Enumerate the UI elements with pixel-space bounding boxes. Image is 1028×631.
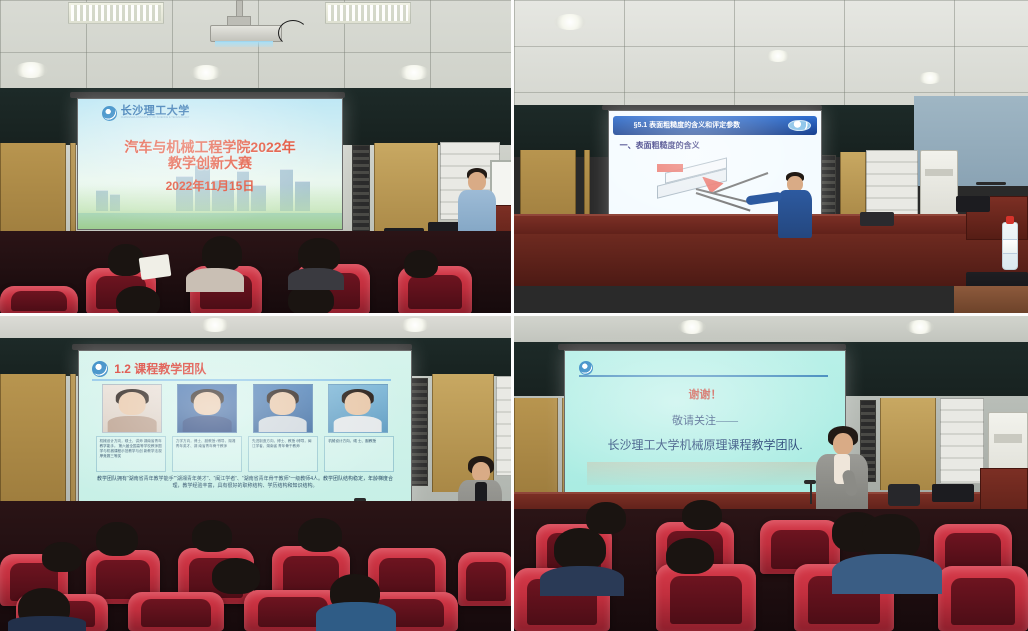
audience-head bbox=[116, 286, 160, 313]
presenter-head bbox=[472, 462, 490, 482]
front-desk-top bbox=[954, 286, 1028, 313]
audience-shoulders bbox=[186, 268, 244, 292]
slide-team-heading: 1.2 课程教学团队 bbox=[114, 360, 206, 377]
ceiling-panel-light bbox=[325, 2, 411, 24]
slide-subtitle: 一、表面粗糙度的含义 bbox=[620, 140, 700, 151]
portrait-face bbox=[269, 392, 296, 415]
wood-wall-panel bbox=[0, 374, 66, 516]
diagram-wedge bbox=[657, 164, 682, 172]
bottle-label bbox=[1003, 239, 1017, 255]
audience-seat bbox=[0, 286, 78, 313]
audience-head bbox=[666, 538, 714, 574]
portrait-torso bbox=[183, 416, 232, 432]
audience-shoulders bbox=[832, 554, 942, 594]
wall-grille bbox=[352, 145, 370, 237]
audience-head bbox=[404, 250, 438, 278]
audience-shoulders bbox=[288, 268, 344, 290]
university-name-en: CHANGSHA UNIVERSITY OF SCIENCE & TECHNOL… bbox=[121, 117, 190, 120]
university-seal-icon bbox=[102, 106, 117, 121]
audience-head bbox=[554, 528, 606, 570]
downlight bbox=[398, 65, 430, 80]
equipment-box bbox=[860, 212, 894, 226]
stage-front-wall bbox=[514, 234, 1028, 286]
laptop bbox=[956, 196, 990, 212]
wall-grille bbox=[410, 378, 428, 486]
audience-seat bbox=[458, 552, 511, 606]
downlight bbox=[766, 50, 790, 62]
slide-thanks-header bbox=[579, 361, 828, 377]
audience-seat bbox=[938, 566, 1028, 631]
slide-city-graphic bbox=[587, 462, 822, 485]
university-seal-icon bbox=[92, 361, 108, 377]
team-portrait bbox=[102, 384, 162, 433]
downlight bbox=[906, 320, 934, 334]
slide-team-header: 1.2 课程教学团队 bbox=[92, 359, 391, 380]
audience-head bbox=[298, 238, 340, 272]
photo-panel-bottom-right[interactable]: 谢谢！ 敬请关注—— 长沙理工大学机械原理课程教学团队. bbox=[514, 316, 1028, 631]
audience-shoulders bbox=[540, 566, 624, 596]
equipment-bin bbox=[888, 484, 920, 506]
roughness-diagram bbox=[651, 161, 749, 211]
portrait-face bbox=[119, 392, 146, 415]
microphone-icon bbox=[976, 182, 1006, 185]
slide-thanks-slide: 谢谢！ 敬请关注—— 长沙理工大学机械原理课程教学团队. bbox=[565, 351, 845, 497]
portrait-torso bbox=[258, 416, 307, 432]
team-caption: 机械设计方向，硕士、讲师 湖南省青年教学能手。 第六届全国高等学校教师图 学与机… bbox=[96, 436, 166, 472]
projector-cable bbox=[278, 20, 308, 46]
university-seal-icon bbox=[788, 120, 810, 131]
team-portrait-row bbox=[102, 384, 388, 433]
audience-seat bbox=[128, 592, 224, 631]
thanks-line-3: 长沙理工大学机械原理课程教学团队. bbox=[565, 436, 845, 453]
projection-screen: 1.2 课程教学团队 bbox=[78, 350, 412, 516]
downlight bbox=[400, 318, 430, 332]
air-conditioner-icon bbox=[920, 150, 958, 222]
projection-screen: 谢谢！ 敬请关注—— 长沙理工大学机械原理课程教学团队. bbox=[564, 350, 846, 498]
female-presenter-closing bbox=[810, 426, 874, 522]
wood-wall-panel bbox=[514, 398, 558, 504]
audience-seat bbox=[656, 564, 756, 631]
audience-head bbox=[212, 558, 260, 594]
projection-screen: 长沙理工大学 CHANGSHA UNIVERSITY OF SCIENCE & … bbox=[77, 98, 343, 230]
photo-collage: 长沙理工大学 CHANGSHA UNIVERSITY OF SCIENCE & … bbox=[0, 0, 1028, 631]
university-logo: 长沙理工大学 CHANGSHA UNIVERSITY OF SCIENCE & … bbox=[102, 106, 190, 121]
audience-shoulders bbox=[8, 616, 86, 631]
water-bottle bbox=[1002, 222, 1018, 270]
laptop bbox=[932, 484, 974, 502]
presenter-head bbox=[833, 433, 853, 455]
team-caption: 力学方向，博士、副教授 /博导，湖湘青年英才、湖 南省青年骨干教师 bbox=[172, 436, 242, 472]
audience-head bbox=[42, 542, 82, 572]
speaker-head bbox=[468, 172, 486, 191]
portrait-face bbox=[194, 392, 221, 415]
audience-shoulders bbox=[316, 602, 396, 631]
downlight bbox=[200, 318, 230, 332]
slide-team-slide: 1.2 课程教学团队 bbox=[79, 351, 411, 515]
team-caption-row: 机械设计方向，硕士、讲师 湖南省青年教学能手。 第六届全国高等学校教师图 学与机… bbox=[96, 436, 395, 472]
team-portrait bbox=[177, 384, 237, 433]
team-portrait bbox=[328, 384, 388, 433]
portrait-torso bbox=[333, 416, 382, 432]
photo-panel-top-left[interactable]: 长沙理工大学 CHANGSHA UNIVERSITY OF SCIENCE & … bbox=[0, 0, 511, 313]
university-seal-icon bbox=[579, 361, 593, 375]
thanks-line-2: 敬请关注—— bbox=[565, 412, 845, 428]
slide-title-slide: 长沙理工大学 CHANGSHA UNIVERSITY OF SCIENCE & … bbox=[78, 99, 342, 229]
thanks-line-1: 谢谢！ bbox=[565, 386, 845, 402]
audience-head bbox=[96, 522, 138, 556]
audience-head bbox=[192, 520, 232, 552]
team-caption: 机械设计方向，硕 士、副教授 bbox=[324, 436, 394, 472]
projector-icon bbox=[210, 25, 282, 42]
slide-date: 2022年11月15日 bbox=[78, 177, 342, 194]
wall-slat-panel bbox=[940, 398, 984, 484]
audience-head bbox=[682, 500, 722, 530]
downlight bbox=[14, 62, 48, 78]
wall-grille bbox=[820, 155, 836, 221]
lecturer-torso bbox=[778, 190, 812, 238]
wood-wall-panel bbox=[70, 374, 76, 516]
photo-panel-bottom-left[interactable]: 1.2 课程教学团队 bbox=[0, 316, 511, 631]
paper-sheet bbox=[139, 254, 172, 280]
audience-head bbox=[298, 518, 342, 552]
slide-banner: §5.1 表面粗糙度的含义和评定参数 bbox=[613, 116, 817, 135]
portrait-face bbox=[344, 392, 371, 415]
audience-head bbox=[202, 236, 242, 272]
downlight bbox=[678, 320, 706, 334]
downlight bbox=[190, 65, 222, 80]
male-lecturer bbox=[764, 172, 820, 238]
wood-wall-panel bbox=[880, 398, 936, 490]
bottle-cap bbox=[1006, 216, 1014, 224]
photo-panel-top-right[interactable]: §5.1 表面粗糙度的含义和评定参数 一、表面粗糙度的含义 bbox=[514, 0, 1028, 313]
slide-heading-line2: 教学创新大赛 bbox=[78, 155, 342, 173]
projector-beam bbox=[215, 41, 273, 47]
ceiling-panel-light bbox=[68, 2, 164, 24]
slide-banner-text: §5.1 表面粗糙度的含义和评定参数 bbox=[613, 120, 740, 130]
downlight bbox=[554, 14, 586, 30]
team-footer-text: 教学团队拥有“湖南省青年教学能手”“湖湘青年英才”、“闽江学者”、“湖南省青年骨… bbox=[96, 476, 395, 490]
team-caption: 先进制造方向，博士、教授 /博导，闽江学者，湖南省 青年骨干教师 bbox=[248, 436, 318, 472]
team-portrait bbox=[253, 384, 313, 433]
portrait-torso bbox=[108, 416, 157, 432]
downlight bbox=[918, 72, 942, 84]
